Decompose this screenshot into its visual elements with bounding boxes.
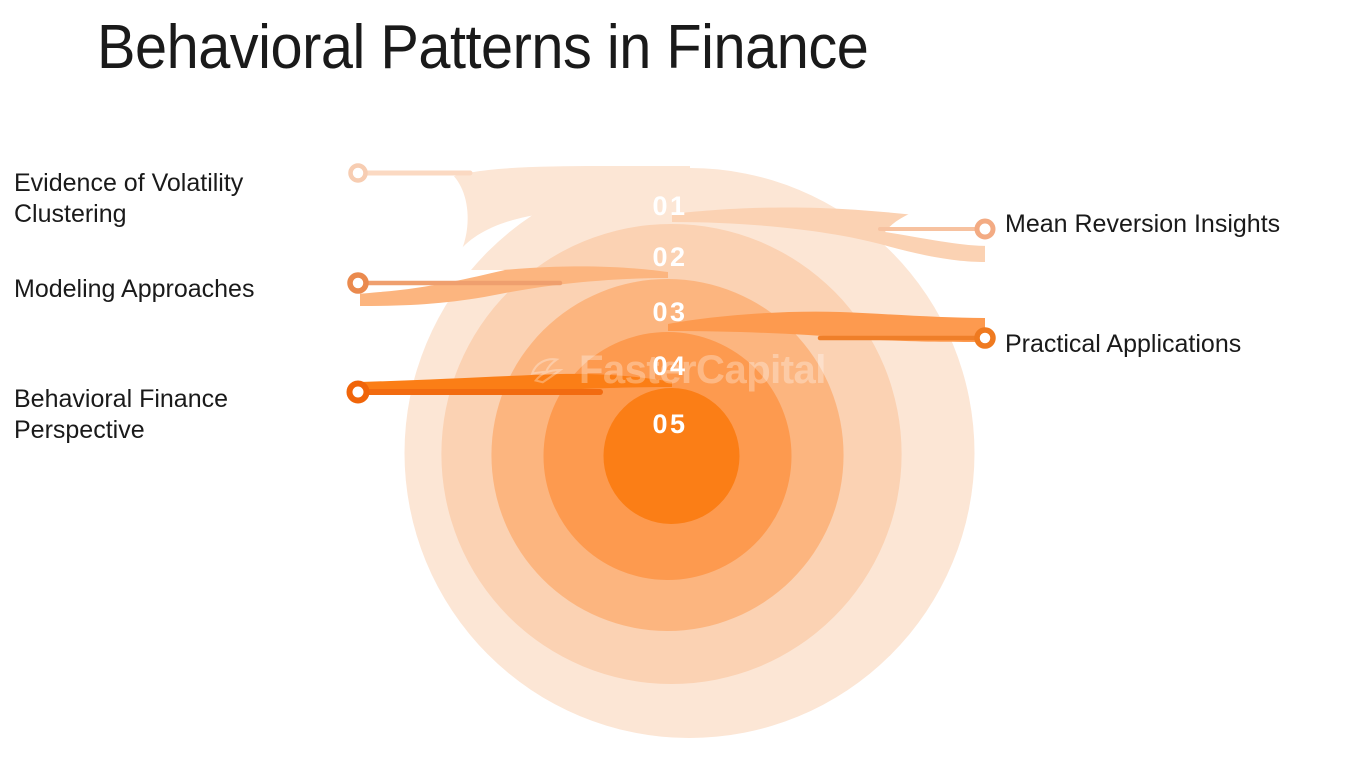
step-number-03: 03 [652, 297, 687, 327]
step-number-01: 01 [652, 191, 687, 221]
spiral-diagram: 01 02 03 04 05 [0, 0, 1350, 759]
callout-label-02[interactable]: Mean Reversion Insights [1005, 209, 1345, 240]
step-number-02: 02 [652, 242, 687, 272]
connector-dot-03[interactable] [350, 275, 366, 291]
spiral-diagram-svg: 01 02 03 04 05 [0, 0, 1350, 759]
step-number-05: 05 [652, 409, 687, 439]
callout-label-04[interactable]: Practical Applications [1005, 329, 1345, 360]
connector-dot-05[interactable] [350, 384, 367, 401]
slide-canvas: Behavioral Patterns in Finance [0, 0, 1350, 759]
callout-label-03[interactable]: Modeling Approaches [14, 274, 344, 305]
callout-label-05[interactable]: Behavioral Finance Perspective [14, 384, 334, 446]
callout-label-01[interactable]: Evidence of Volatility Clustering [14, 168, 324, 230]
connector-dot-01[interactable] [351, 166, 366, 181]
step-number-04: 04 [652, 351, 687, 381]
connector-dot-04[interactable] [977, 330, 993, 346]
connector-dot-02[interactable] [977, 221, 993, 237]
